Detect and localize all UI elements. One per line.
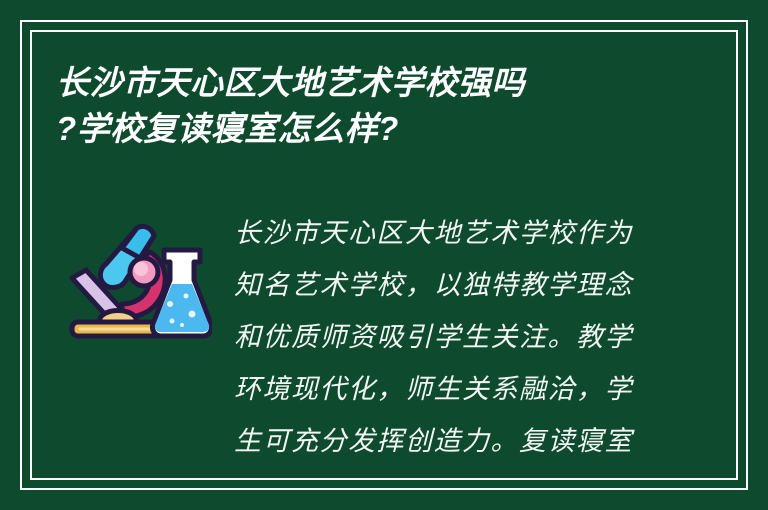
page-canvas: 长沙市天心区大地艺术学校强吗 ?学校复读寝室怎么样? [0,0,768,510]
body-line-4: 环境现代化，师生关系融洽，学 [234,364,654,416]
frame-edge-mask-right [748,0,768,510]
title-line-1: 长沙市天心区大地艺术学校强吗 [56,60,656,106]
body-line-3: 和优质师资吸引学生关注。教学 [234,312,654,364]
microscope-and-flask-icon [64,222,212,344]
body-line-2: 知名艺术学校，以独特教学理念 [234,260,654,312]
article-body: 长沙市天心区大地艺术学校作为 知名艺术学校，以独特教学理念 和优质师资吸引学生关… [234,208,654,468]
microscope-icon [72,226,165,336]
body-line-1: 长沙市天心区大地艺术学校作为 [234,208,654,260]
title-line-2: ?学校复读寝室怎么样? [56,106,656,152]
page-title: 长沙市天心区大地艺术学校强吗 ?学校复读寝室怎么样? [56,60,656,152]
frame-edge-mask-bottom [0,494,768,510]
body-line-5: 生可充分发挥创造力。复读寝室 [234,416,654,468]
